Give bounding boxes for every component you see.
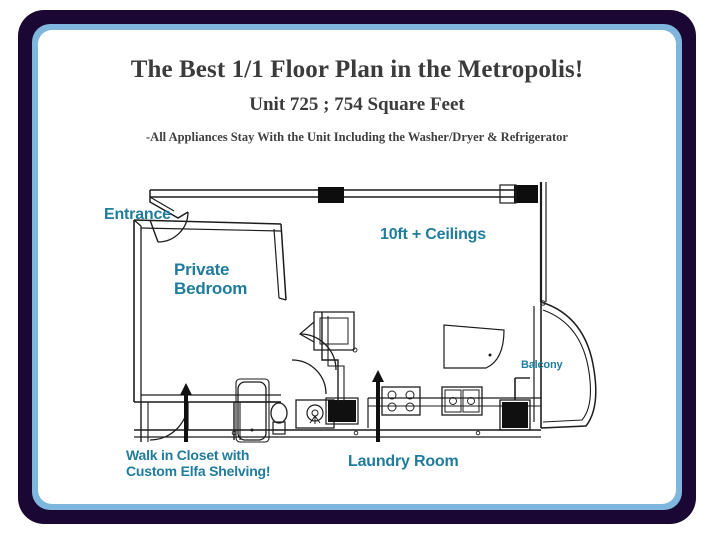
bathtub-icon [238, 382, 266, 440]
label-private-bedroom: Private Bedroom [174, 260, 247, 298]
appliance-note: -All Appliances Stay With the Unit Inclu… [38, 130, 676, 145]
toilet-icon [271, 403, 287, 423]
living-room-closet [444, 325, 504, 368]
stove-icon [382, 387, 420, 415]
label-entrance: Entrance [104, 206, 171, 224]
washer-dryer-icon [296, 400, 334, 428]
poster-heading: The Best 1/1 Floor Plan in the Metropoli… [38, 30, 676, 145]
laundry-pointer-arrow [372, 370, 384, 442]
plan-pointer-arrows [180, 370, 384, 442]
label-laundry-room: Laundry Room [348, 453, 459, 471]
floor-plan-poster: The Best 1/1 Floor Plan in the Metropoli… [0, 0, 714, 536]
laundry-closet-block [328, 400, 356, 422]
plan-window-blocks [318, 185, 538, 203]
label-walk-in-closet: Walk in Closet with Custom Elfa Shelving… [126, 448, 270, 479]
plan-walls [134, 182, 596, 442]
hall-door-swing [300, 334, 336, 370]
bedroom-door-swing [150, 402, 188, 440]
window-block-top-right [514, 185, 538, 203]
window-block-top-center [318, 187, 344, 203]
page-subtitle: Unit 725 ; 754 Square Feet [38, 94, 676, 116]
poster-inner-border: The Best 1/1 Floor Plan in the Metropoli… [32, 24, 682, 510]
closet-pointer-arrow [180, 383, 192, 442]
label-balcony: Balcony [521, 359, 562, 371]
poster-outer-border: The Best 1/1 Floor Plan in the Metropoli… [18, 10, 696, 524]
poster-canvas: The Best 1/1 Floor Plan in the Metropoli… [38, 30, 676, 504]
page-title: The Best 1/1 Floor Plan in the Metropoli… [38, 56, 676, 84]
kitchen-sink-icon [442, 387, 482, 415]
label-ceiling-height: 10ft + Ceilings [380, 226, 486, 244]
bath-door-swing [292, 360, 326, 394]
refrigerator-block [502, 402, 528, 428]
